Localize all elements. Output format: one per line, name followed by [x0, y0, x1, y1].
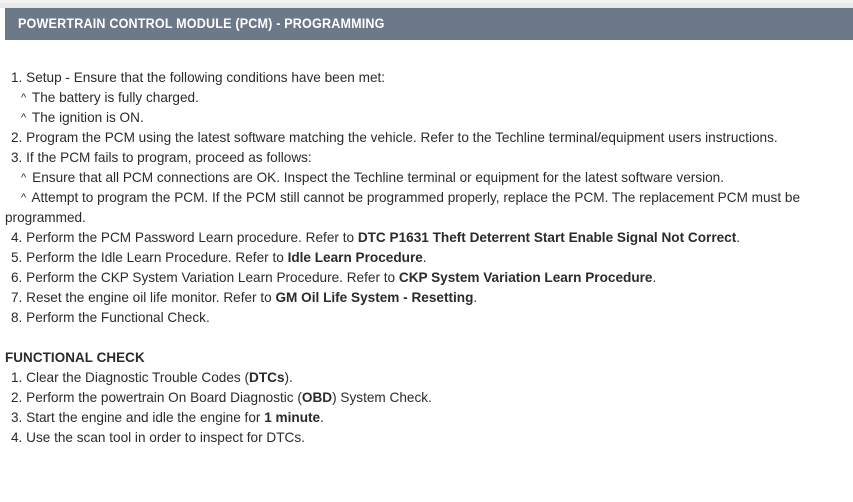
step-text-tail: ).: [285, 370, 293, 385]
procedure-step: 2. Program the PCM using the latest soft…: [0, 128, 853, 148]
page-title: POWERTRAIN CONTROL MODULE (PCM) - PROGRA…: [18, 16, 385, 31]
step-bullet: ^ Attempt to program the PCM. If the PCM…: [0, 188, 853, 228]
procedure-reference-link[interactable]: Idle Learn Procedure: [288, 250, 423, 265]
bullet-text: The ignition is ON.: [32, 110, 144, 125]
step-number: 1.: [11, 370, 22, 385]
emphasis-term: 1 minute: [264, 410, 320, 425]
bullet-text: Ensure that all PCM connections are OK. …: [32, 170, 724, 185]
step-text: If the PCM fails to program, proceed as …: [26, 150, 312, 165]
caret-bullet-icon: ^: [21, 112, 28, 124]
bullet-text: Attempt to program the PCM. If the PCM s…: [5, 190, 800, 225]
step-text: Setup - Ensure that the following condit…: [26, 70, 385, 85]
step-number: 3.: [11, 410, 22, 425]
step-line: 1. Clear the Diagnostic Trouble Codes (D…: [0, 368, 853, 388]
functional-check-step: 4. Use the scan tool in order to inspect…: [0, 428, 853, 448]
step-number: 4.: [11, 430, 22, 445]
step-text-tail: .: [320, 410, 324, 425]
emphasis-term: DTCs: [249, 370, 285, 385]
step-number: 2.: [11, 130, 22, 145]
step-bullet: ^ The battery is fully charged.: [0, 88, 853, 108]
procedure-reference-link[interactable]: GM Oil Life System - Resetting: [275, 290, 473, 305]
functional-check-step: 3. Start the engine and idle the engine …: [0, 408, 853, 428]
procedure-step: 1. Setup - Ensure that the following con…: [0, 68, 853, 128]
caret-bullet-icon: ^: [21, 192, 28, 204]
step-text: Program the PCM using the latest softwar…: [26, 130, 778, 145]
step-text-tail: .: [473, 290, 477, 305]
step-number: 2.: [11, 390, 22, 405]
procedure-step: 5. Perform the Idle Learn Procedure. Ref…: [0, 248, 853, 268]
step-text: Start the engine and idle the engine for: [26, 410, 264, 425]
bullet-text: The battery is fully charged.: [32, 90, 199, 105]
step-number: 3.: [11, 150, 22, 165]
procedure-step: 3. If the PCM fails to program, proceed …: [0, 148, 853, 228]
procedure-step: 8. Perform the Functional Check.: [0, 308, 853, 328]
step-number: 4.: [11, 230, 22, 245]
step-text-tail: ) System Check.: [332, 390, 432, 405]
step-text: Perform the PCM Password Learn procedure…: [26, 230, 358, 245]
procedure-step: 4. Perform the PCM Password Learn proced…: [0, 228, 853, 248]
caret-bullet-icon: ^: [21, 92, 28, 104]
procedure-reference-link[interactable]: DTC P1631 Theft Deterrent Start Enable S…: [358, 230, 736, 245]
functional-check-step: 1. Clear the Diagnostic Trouble Codes (D…: [0, 368, 853, 388]
step-number: 8.: [11, 310, 22, 325]
document-body: 1. Setup - Ensure that the following con…: [0, 40, 853, 448]
step-line: 2. Program the PCM using the latest soft…: [0, 128, 853, 148]
step-text: Perform the powertrain On Board Diagnost…: [26, 390, 302, 405]
step-bullet: ^ The ignition is ON.: [0, 108, 853, 128]
step-text: Perform the CKP System Variation Learn P…: [26, 270, 399, 285]
step-line: 3. Start the engine and idle the engine …: [0, 408, 853, 428]
step-line: 6. Perform the CKP System Variation Lear…: [0, 268, 853, 288]
page-top-strip-highlight: [0, 0, 853, 3]
body-top-spacer: [0, 40, 853, 68]
step-text-tail: .: [736, 230, 740, 245]
step-number: 5.: [11, 250, 22, 265]
section-gap: [0, 328, 853, 348]
functional-check-list: 1. Clear the Diagnostic Trouble Codes (D…: [0, 368, 853, 448]
emphasis-term: OBD: [302, 390, 332, 405]
step-number: 7.: [11, 290, 22, 305]
procedure-step: 7. Reset the engine oil life monitor. Re…: [0, 288, 853, 308]
section-title-bar: POWERTRAIN CONTROL MODULE (PCM) - PROGRA…: [5, 8, 853, 40]
procedure-reference-link[interactable]: CKP System Variation Learn Procedure: [399, 270, 653, 285]
step-text: Perform the Idle Learn Procedure. Refer …: [26, 250, 287, 265]
step-text: Perform the Functional Check.: [26, 310, 210, 325]
step-line: 7. Reset the engine oil life monitor. Re…: [0, 288, 853, 308]
step-number: 1.: [11, 70, 22, 85]
page-top-strip: [0, 0, 853, 8]
step-line: 1. Setup - Ensure that the following con…: [0, 68, 853, 88]
step-line: 5. Perform the Idle Learn Procedure. Ref…: [0, 248, 853, 268]
step-text: Reset the engine oil life monitor. Refer…: [26, 290, 275, 305]
step-text: Use the scan tool in order to inspect fo…: [26, 430, 305, 445]
step-number: 6.: [11, 270, 22, 285]
step-line: 2. Perform the powertrain On Board Diagn…: [0, 388, 853, 408]
step-text: Clear the Diagnostic Trouble Codes (: [26, 370, 249, 385]
step-line: 4. Use the scan tool in order to inspect…: [0, 428, 853, 448]
procedure-step: 6. Perform the CKP System Variation Lear…: [0, 268, 853, 288]
step-text-tail: .: [423, 250, 427, 265]
functional-check-heading: FUNCTIONAL CHECK: [0, 348, 853, 368]
step-line: 4. Perform the PCM Password Learn proced…: [0, 228, 853, 248]
document-page: POWERTRAIN CONTROL MODULE (PCM) - PROGRA…: [0, 0, 853, 502]
step-line: 8. Perform the Functional Check.: [0, 308, 853, 328]
step-text-tail: .: [652, 270, 656, 285]
step-line: 3. If the PCM fails to program, proceed …: [0, 148, 853, 168]
caret-bullet-icon: ^: [21, 172, 28, 184]
functional-check-step: 2. Perform the powertrain On Board Diagn…: [0, 388, 853, 408]
step-bullet: ^ Ensure that all PCM connections are OK…: [0, 168, 853, 188]
